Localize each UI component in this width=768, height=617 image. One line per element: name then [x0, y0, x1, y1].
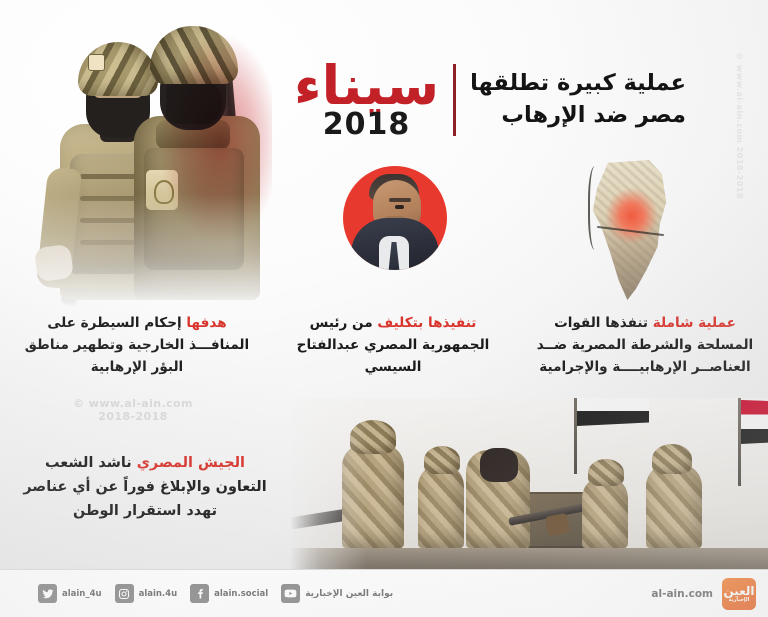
instagram-icon: [115, 584, 134, 603]
social-link-instagram[interactable]: alain.4u: [115, 584, 178, 603]
flag-pole: [574, 398, 577, 474]
soldier-head: [480, 448, 518, 482]
footer-bar: alain_4u alain.4u alain.social بوابة الع…: [0, 569, 768, 617]
social-handle-instagram: alain.4u: [139, 589, 178, 599]
map-border-line: [588, 166, 605, 250]
poster-header: سيناء 2018 عملية كبيرة تطلقها مصر ضد الإ…: [288, 52, 750, 148]
watermark-line-2: 2018-2018: [58, 411, 208, 424]
helmet-badge: [88, 54, 105, 71]
vehicle-deck: [290, 548, 768, 570]
social-handle-facebook: alain.social: [214, 589, 268, 599]
page-title-year: 2018: [323, 110, 411, 140]
text-block-order: تنفيذها بتكليف من رئيس الجمهورية المصري …: [288, 312, 498, 378]
title-divider: [453, 64, 456, 136]
watermark: © www.al-ain.com 2018-2018: [58, 398, 208, 423]
portrait-eye: [395, 205, 404, 209]
logo-main-text: العين: [723, 585, 754, 597]
text-block-scope-highlight: عملية شاملة: [653, 315, 736, 331]
text-block-scope: عملية شاملة تنفذها القوات المسلحة والشرط…: [532, 312, 758, 378]
watermark-side: © www.al-ain.com 2018-2018: [734, 52, 745, 199]
footer-brand: al-ain.com العين الإخبارية: [651, 578, 756, 610]
president-portrait: [343, 166, 447, 270]
logo-sub-text: الإخبارية: [729, 598, 750, 603]
portrait-red-circle: [343, 166, 447, 270]
social-link-facebook[interactable]: alain.social: [190, 584, 268, 603]
battle-soldier: [342, 444, 404, 548]
flag-cloth: [741, 400, 768, 444]
flag-pole: [738, 398, 741, 486]
battle-soldier: [646, 464, 702, 548]
helmet-icon: [424, 446, 460, 474]
social-link-youtube[interactable]: بوابة العين الإخبارية: [281, 584, 393, 603]
twitter-icon: [38, 584, 57, 603]
brand-block: سيناء 2018: [288, 60, 439, 141]
helmet-icon: [150, 26, 238, 84]
text-block-appeal: الجيش المصري ناشد الشعب التعاون والإبلاغ…: [20, 452, 270, 524]
battle-soldier: [418, 464, 464, 548]
soldiers-pair-photo: [22, 8, 272, 308]
text-block-goal-highlight: هدفها: [186, 315, 226, 331]
watermark-line-1: © www.al-ain.com: [58, 398, 208, 411]
social-handle-twitter: alain_4u: [62, 589, 102, 599]
headline-line-1: عملية كبيرة تطلقها: [470, 68, 686, 100]
infographic-poster: سيناء 2018 عملية كبيرة تطلقها مصر ضد الإ…: [0, 0, 768, 617]
headline-line-2: مصر ضد الإرهاب: [470, 100, 686, 132]
portrait-brow: [389, 198, 411, 202]
text-block-order-highlight: تنفيذها بتكليف: [377, 315, 476, 331]
soldier-vest: [144, 148, 244, 270]
text-block-appeal-highlight: الجيش المصري: [137, 455, 245, 471]
helmet-icon: [588, 459, 624, 486]
social-handle-youtube: بوابة العين الإخبارية: [305, 589, 393, 599]
flag-cloth: [577, 398, 649, 426]
shoulder-patch-icon: [146, 170, 178, 210]
social-link-twitter[interactable]: alain_4u: [38, 584, 102, 603]
helmet-icon: [350, 420, 396, 454]
battle-soldier: [582, 476, 628, 548]
soldiers-photo-fade: [22, 8, 272, 308]
helmet-icon: [652, 444, 692, 474]
balaclava-icon: [166, 82, 222, 124]
battle-scene-photo: [290, 398, 768, 570]
site-url[interactable]: al-ain.com: [651, 588, 713, 600]
sinai-map-graphic: [582, 160, 690, 300]
facebook-icon: [190, 584, 209, 603]
youtube-icon: [281, 584, 300, 603]
headline: عملية كبيرة تطلقها مصر ضد الإرهاب: [470, 68, 686, 132]
text-block-goal: هدفها إحكام السيطرة على المنافـــذ الخار…: [22, 312, 252, 378]
al-ain-logo-icon[interactable]: العين الإخبارية: [722, 578, 756, 610]
egyptian-flag-icon: [738, 398, 768, 486]
social-links: alain_4u alain.4u alain.social بوابة الع…: [38, 584, 393, 603]
soldier-glove: [34, 244, 74, 283]
page-title: سيناء: [294, 60, 439, 113]
soldier-rear-figure: [130, 24, 262, 300]
